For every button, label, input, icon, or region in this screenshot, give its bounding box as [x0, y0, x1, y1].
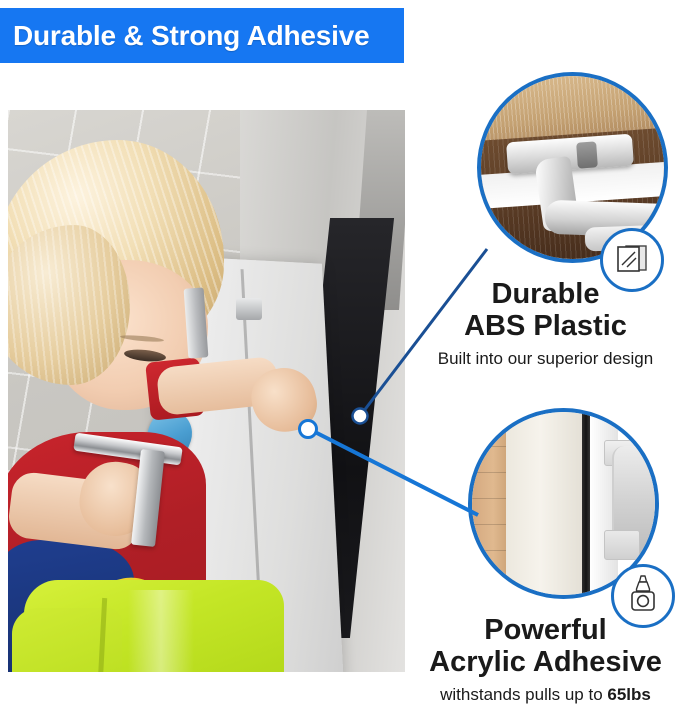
drawer-gap-seam — [582, 412, 590, 599]
adhesive-subtitle-text: withstands pulls up to — [440, 685, 607, 704]
adhesive-title-line2: Acrylic Adhesive — [412, 646, 679, 678]
glue-bottle-icon — [628, 574, 658, 619]
child-hair-side — [8, 225, 130, 385]
infographic-page: Durable & Strong Adhesive — [0, 0, 679, 713]
durable-title-line2: ABS Plastic — [412, 310, 679, 342]
white-drawer-panel — [506, 412, 582, 599]
adhesive-tab-bottom — [604, 530, 640, 560]
handle-bracket — [236, 298, 262, 320]
callout-text-durable: Durable ABS Plastic Built into our super… — [412, 278, 679, 369]
adhesive-subtitle-strength: 65lbs — [607, 685, 650, 704]
durable-subtitle: Built into our superior design — [412, 349, 679, 369]
adhesive-subtitle: withstands pulls up to 65lbs — [412, 685, 679, 705]
toddler-opening-drawer-photo — [8, 110, 405, 672]
callout-text-adhesive: Powerful Acrylic Adhesive withstands pul… — [412, 614, 679, 705]
adhesive-title-line1: Powerful — [412, 614, 679, 646]
page-title: Durable & Strong Adhesive — [0, 20, 369, 52]
plastic-sheet-icon — [614, 241, 650, 280]
header-banner: Durable & Strong Adhesive — [0, 8, 404, 63]
latch-slot — [576, 141, 598, 168]
durable-title-line1: Durable — [412, 278, 679, 310]
stool-highlight — [128, 590, 194, 672]
